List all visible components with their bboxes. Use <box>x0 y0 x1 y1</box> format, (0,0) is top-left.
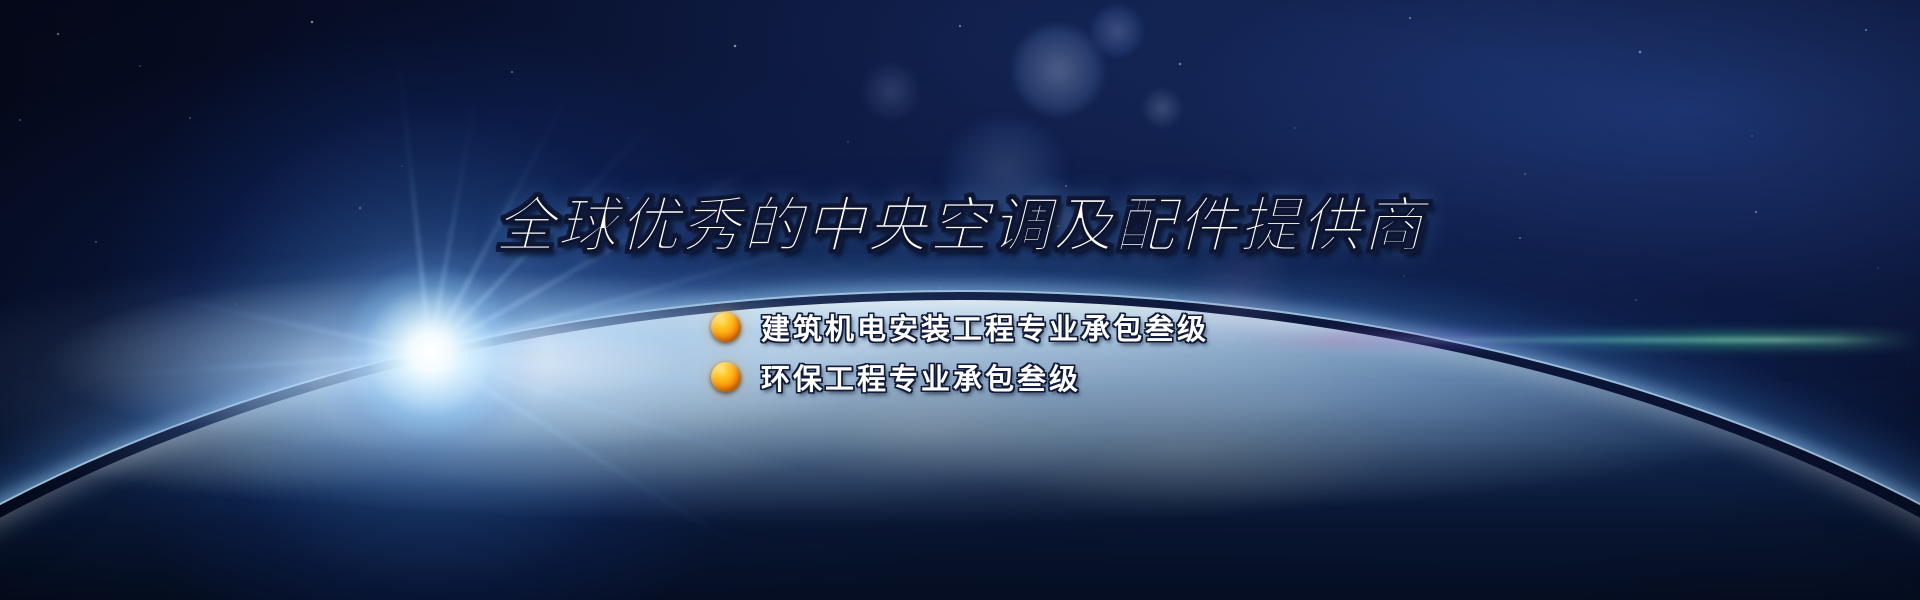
orange-sphere-bullet-icon <box>711 312 741 342</box>
banner-content: 全球优秀的中央空调及配件提供商 建筑机电安装工程专业承包叁级 环保工程专业承包叁… <box>0 196 1920 402</box>
list-item: 建筑机电安装工程专业承包叁级 <box>711 302 1209 352</box>
list-item-label: 环保工程专业承包叁级 <box>761 356 1081 398</box>
list-item: 环保工程专业承包叁级 <box>711 352 1209 402</box>
hero-banner: 全球优秀的中央空调及配件提供商 建筑机电安装工程专业承包叁级 环保工程专业承包叁… <box>0 0 1920 600</box>
banner-qualification-list: 建筑机电安装工程专业承包叁级 环保工程专业承包叁级 <box>711 302 1209 402</box>
orange-sphere-bullet-icon <box>711 362 741 392</box>
banner-headline: 全球优秀的中央空调及配件提供商 <box>0 196 1920 256</box>
list-item-label: 建筑机电安装工程专业承包叁级 <box>761 306 1209 348</box>
